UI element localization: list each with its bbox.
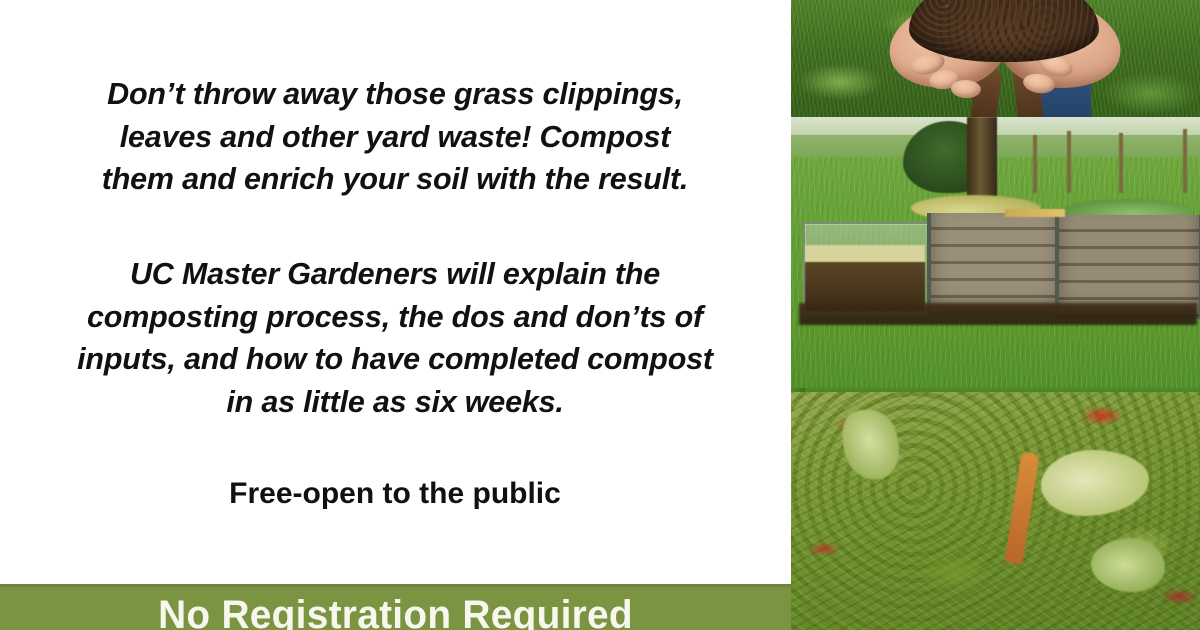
compost-workshop-poster: Don’t throw away those grass clippings, …	[0, 0, 1200, 630]
photo-vegetable-scrap-pile	[791, 388, 1200, 630]
no-registration-banner: No Registration Required	[0, 584, 791, 630]
photo-column	[791, 0, 1200, 630]
intro-paragraph-block: Don’t throw away those grass clippings, …	[0, 73, 790, 201]
tree-trunk	[967, 117, 997, 201]
fence-post-1	[1033, 135, 1037, 193]
fence-post-3	[1119, 133, 1123, 193]
bin-lid-board	[1005, 209, 1065, 217]
photo-bins-content	[791, 117, 1200, 388]
photo-hands-holding-compost	[791, 0, 1200, 117]
no-registration-banner-text: No Registration Required	[12, 593, 779, 630]
text-panel: Don’t throw away those grass clippings, …	[0, 0, 790, 630]
detail-paragraph: UC Master Gardeners will explain the com…	[12, 253, 778, 423]
photo-hands-content	[791, 0, 1200, 117]
intro-paragraph: Don’t throw away those grass clippings, …	[18, 73, 772, 201]
wire-bin-contents	[805, 245, 925, 311]
photo-scraps-content	[791, 388, 1200, 630]
soil-apron	[799, 303, 1197, 325]
free-admission-line: Free-open to the public	[0, 475, 790, 513]
photo-wooden-compost-bins	[791, 117, 1200, 388]
fence-post-2	[1067, 131, 1071, 193]
detail-paragraph-block: UC Master Gardeners will explain the com…	[0, 253, 790, 423]
fence-post-4	[1183, 129, 1187, 193]
wooden-bin-a	[927, 213, 1063, 317]
compost-soil-heap	[909, 0, 1099, 62]
